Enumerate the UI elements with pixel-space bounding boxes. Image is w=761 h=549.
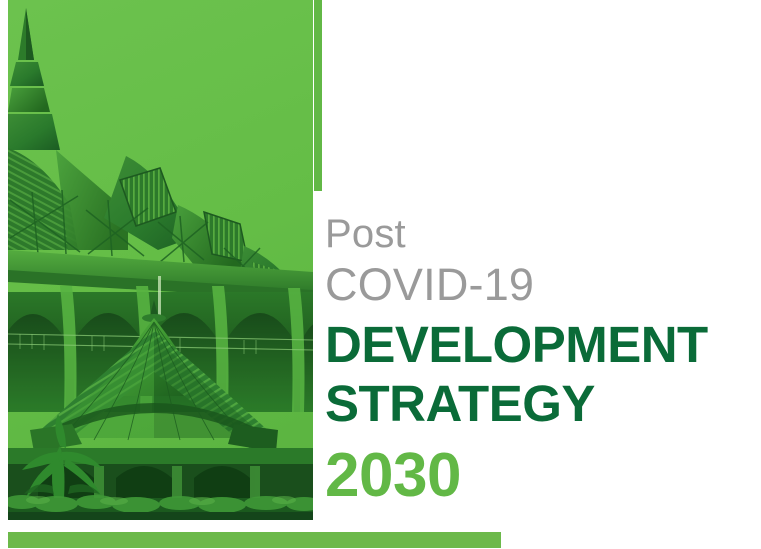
cover-title-block: Post COVID-19 DEVELOPMENT STRATEGY 2030 bbox=[325, 214, 745, 507]
title-line-post: Post bbox=[325, 214, 745, 254]
cover-photo bbox=[8, 0, 313, 520]
title-line-development: DEVELOPMENT bbox=[325, 319, 745, 370]
title-line-strategy: STRATEGY bbox=[325, 378, 745, 429]
vertical-accent-rule bbox=[314, 0, 322, 191]
cover-photo-illustration bbox=[8, 0, 313, 520]
title-line-year: 2030 bbox=[325, 445, 745, 507]
bottom-accent-bar bbox=[8, 532, 501, 548]
title-line-covid: COVID-19 bbox=[325, 262, 745, 307]
report-cover-page: Post COVID-19 DEVELOPMENT STRATEGY 2030 bbox=[0, 0, 761, 549]
